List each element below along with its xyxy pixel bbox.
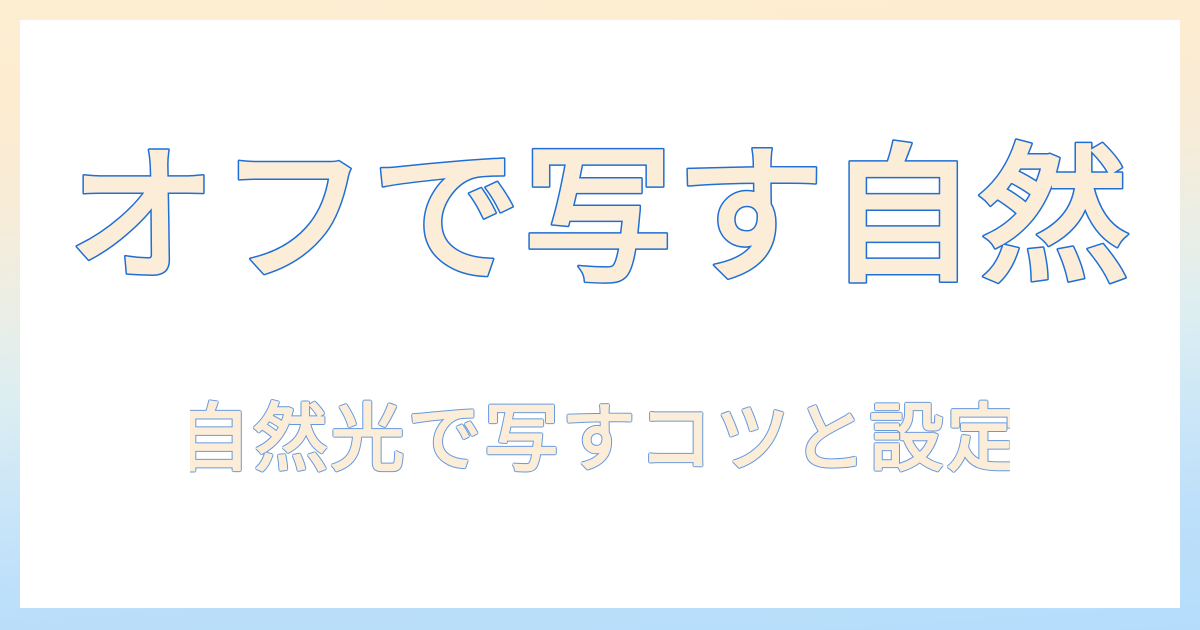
main-title-text: オフで写す自然 [68,131,1132,303]
subtitle: 自然光で写すコツと設定 [190,386,1010,496]
card-inner: オフで写す自然 自然光で写すコツと設定 [20,120,1180,496]
og-image-canvas: オフで写す自然 自然光で写すコツと設定 [0,0,1200,630]
subtitle-text: 自然光で写すコツと設定 [190,396,1010,482]
main-title: オフで写す自然 [50,120,1150,330]
content-card: オフで写す自然 自然光で写すコツと設定 [20,20,1180,608]
